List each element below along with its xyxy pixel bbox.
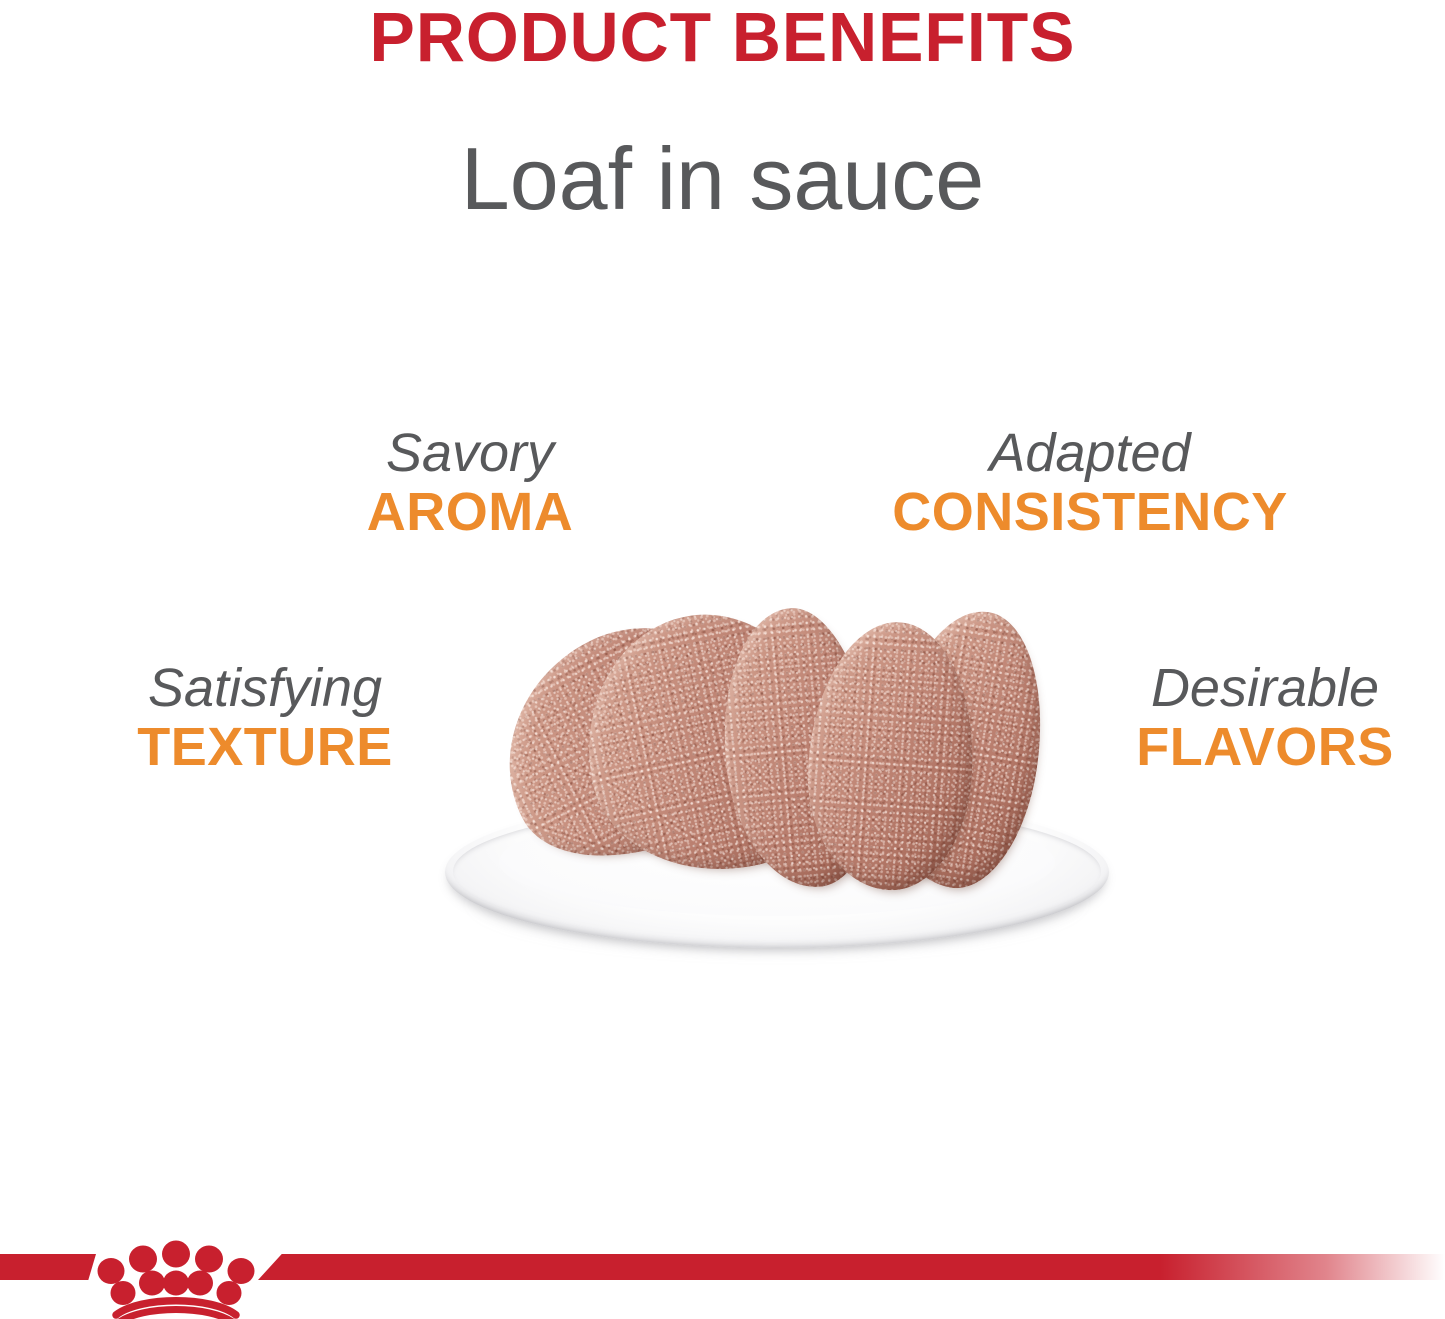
royal-canin-crown-icon (96, 1233, 256, 1319)
benefit-flavors-lead: Desirable (1085, 660, 1445, 717)
benefit-flavors-label: FLAVORS (1085, 717, 1445, 777)
footer-bar-left (0, 1254, 96, 1280)
product-benefits-panel: PRODUCT BENEFITS Loaf in sauce Savory AR… (0, 0, 1445, 1319)
benefit-flavors: Desirable FLAVORS (1085, 660, 1445, 778)
benefit-aroma: Savory AROMA (290, 425, 650, 543)
benefit-consistency-label: CONSISTENCY (850, 482, 1330, 542)
benefit-aroma-lead: Savory (290, 425, 650, 482)
benefit-texture: Satisfying TEXTURE (80, 660, 450, 778)
benefit-texture-lead: Satisfying (80, 660, 450, 717)
benefit-texture-label: TEXTURE (80, 717, 450, 777)
benefit-aroma-label: AROMA (290, 482, 650, 542)
page-kicker: PRODUCT BENEFITS (22, 2, 1424, 72)
benefit-consistency-lead: Adapted (850, 425, 1330, 482)
benefit-consistency: Adapted CONSISTENCY (850, 425, 1330, 543)
page-title: Loaf in sauce (0, 135, 1445, 223)
footer (0, 1240, 1445, 1319)
product-photo (437, 600, 1117, 990)
footer-bar-right (258, 1254, 1445, 1280)
